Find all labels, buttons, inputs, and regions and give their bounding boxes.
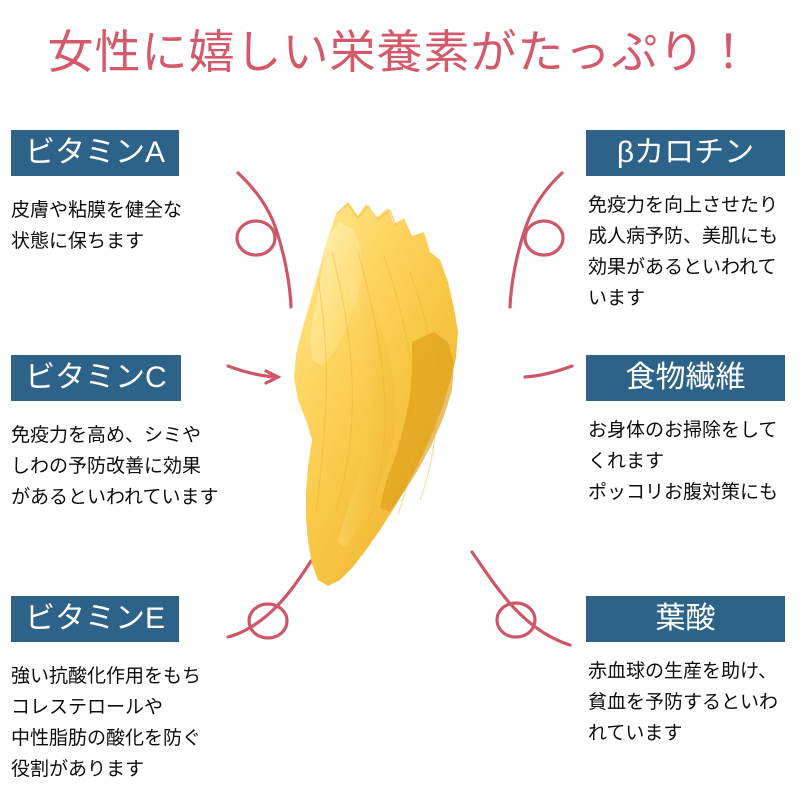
nutrient-block-folate: 葉酸 赤血球の生産を助け、 貧血を予防するといわ れています [586, 596, 800, 749]
nutrient-block-dietary-fiber: 食物繊維 お身体のお掃除をして くれます ポッコリお腹対策にも [586, 355, 800, 508]
page-title: 女性に嬉しい栄養素がたっぷり！ [0, 22, 800, 82]
nutrient-block-vitamin-c: ビタミンC 免疫力を高め、シミや しわの予防改善に効果 があるといわれています [11, 355, 226, 513]
nutrient-label-vitamin-e: ビタミンE [11, 596, 179, 642]
nutrient-label-vitamin-a: ビタミンA [11, 130, 179, 176]
nutrient-label-beta-carotene: βカロチン [586, 130, 785, 176]
nutrient-label-vitamin-c: ビタミンC [11, 355, 181, 401]
nutrient-description-beta-carotene: 免疫力を向上させたり 成人病予防、美肌にも 効果があるといわれて います [588, 190, 800, 314]
nutrient-description-vitamin-c: 免疫力を高め、シミや しわの予防改善に効果 があるといわれています [11, 420, 226, 513]
nutrition-infographic: 女性に嬉しい栄養素がたっぷり！ [0, 0, 800, 800]
nutrient-description-vitamin-e: 強い抗酸化作用をもち コレステロールや 中性脂肪の酸化を防ぐ 役割があります [11, 661, 226, 785]
connector-dietary-fiber [525, 366, 572, 377]
nutrient-label-folate: 葉酸 [586, 596, 785, 642]
nutrient-description-dietary-fiber: お身体のお掃除をして くれます ポッコリお腹対策にも [588, 415, 800, 508]
connector-beta-carotene [510, 173, 563, 307]
nutrient-description-vitamin-a: 皮膚や粘膜を健全な 状態に保ちます [11, 195, 226, 257]
nutrient-block-beta-carotene: βカロチン 免疫力を向上させたり 成人病予防、美肌にも 効果があるといわれて い… [586, 130, 800, 314]
dried-mango-slice-image [262, 182, 492, 592]
nutrient-block-vitamin-e: ビタミンE 強い抗酸化作用をもち コレステロールや 中性脂肪の酸化を防ぐ 役割が… [11, 596, 226, 785]
nutrient-description-folate: 赤血球の生産を助け、 貧血を予防するといわ れています [588, 656, 800, 749]
nutrient-label-dietary-fiber: 食物繊維 [586, 355, 785, 401]
center-image-container [262, 182, 492, 592]
nutrient-block-vitamin-a: ビタミンA 皮膚や粘膜を健全な 状態に保ちます [11, 130, 226, 257]
